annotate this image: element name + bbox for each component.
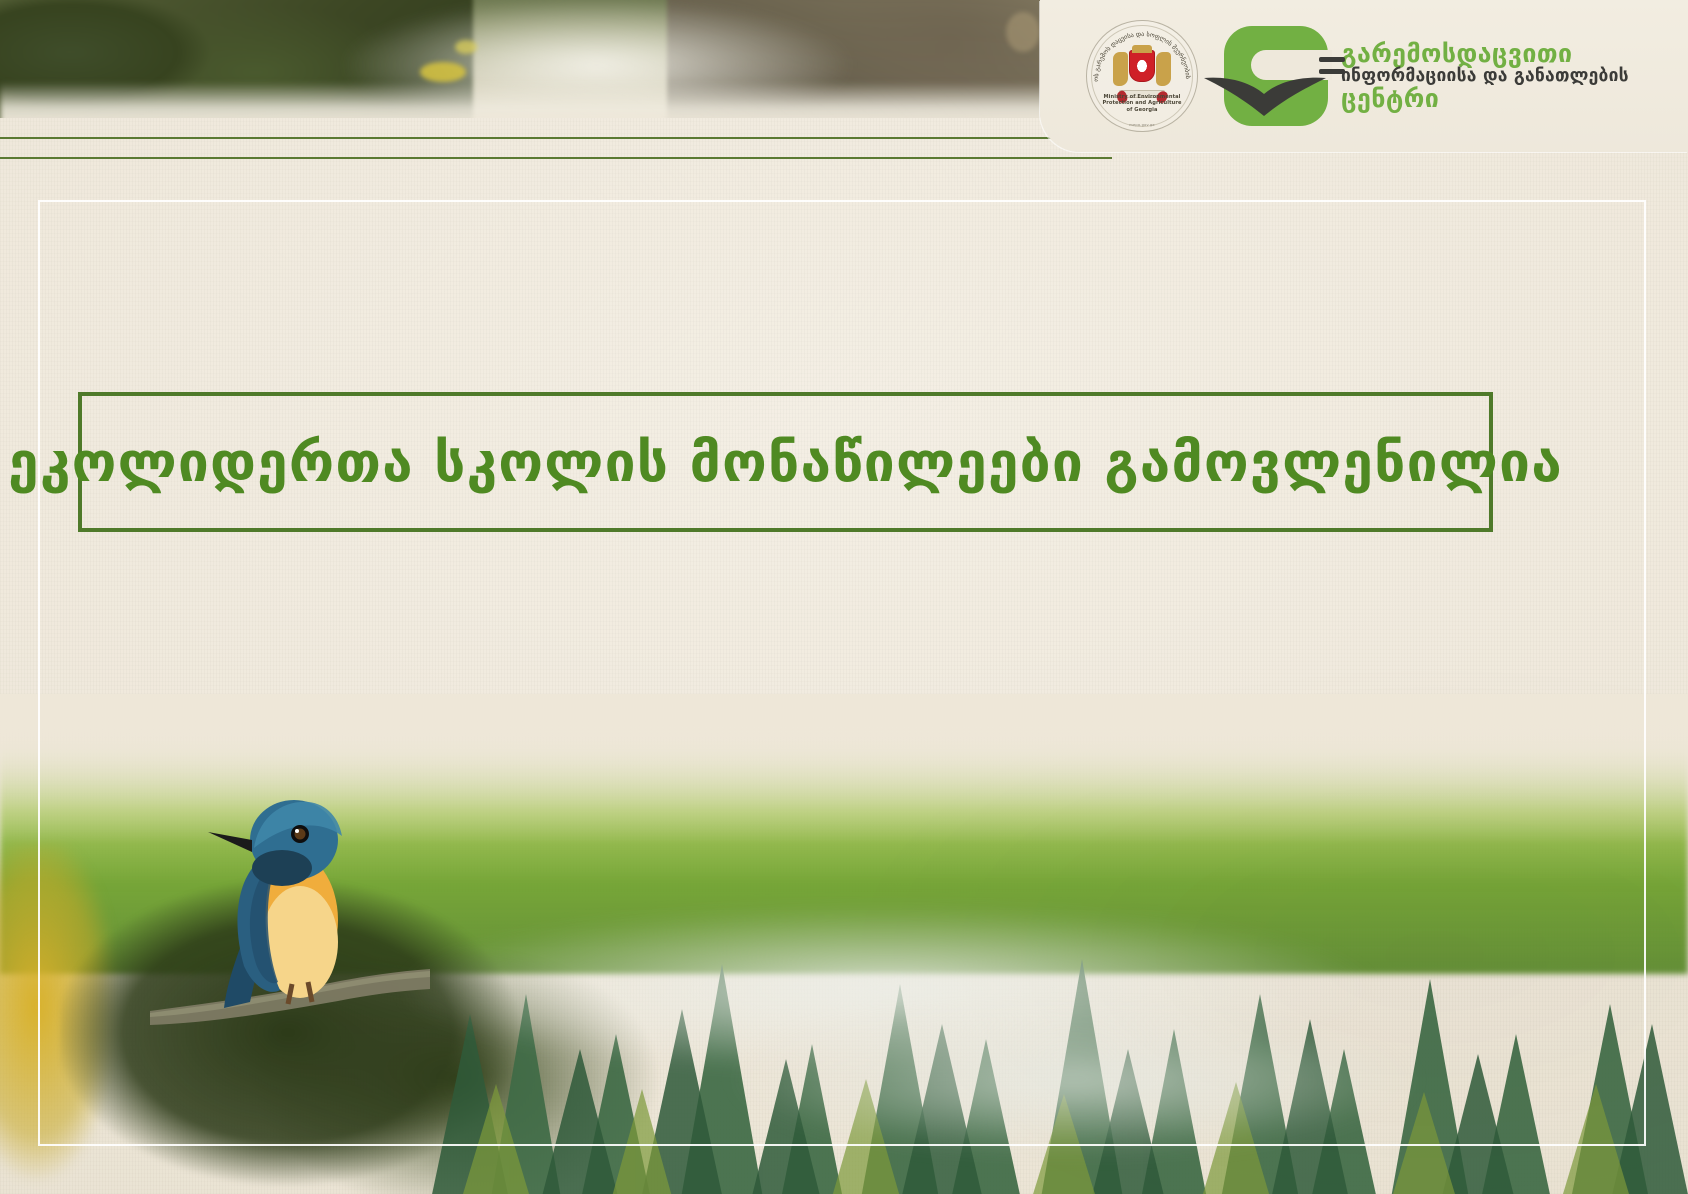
open-book-icon [1202, 74, 1328, 118]
page-title: ეკოლიდერთა სკოლის მონაწილეები გამოვლენილ… [8, 435, 1563, 490]
top-band-foliage-accent-3 [1006, 12, 1040, 52]
seal-english-line-3: of Georgia [1100, 107, 1184, 113]
top-band-foliage-accent-1 [420, 62, 466, 82]
poster-canvas: საქართველოს გარემოს დაცვისა და სოფლის მე… [0, 0, 1688, 1194]
top-band-bottom-fade [0, 82, 1075, 118]
logo-panel: საქართველოს გარემოს დაცვისა და სოფლის მე… [1040, 0, 1688, 152]
bird-throat [252, 850, 312, 886]
eiec-line-1: გარემოსდაცვითი [1341, 41, 1629, 66]
eiec-logo-wordmark: გარემოსდაცვითი ინფორმაციისა და განათლები… [1341, 41, 1629, 112]
header-rule-top [0, 137, 1112, 139]
forest-fog-band-2 [640, 994, 1508, 1164]
seal-url: mepa.gov.ge [1086, 123, 1198, 127]
seal-english-text: Ministry of Environmental Protection and… [1086, 94, 1198, 113]
eiec-logo: გარემოსდაცვითი ინფორმაციისა და განათლები… [1224, 26, 1629, 126]
seal-lion-left [1113, 52, 1128, 86]
eiec-line-3: ცენტრი [1341, 86, 1629, 111]
bird-beak [208, 832, 252, 852]
eiec-mark-bar-upper [1319, 57, 1345, 62]
top-photo-band [0, 0, 1075, 118]
seal-shield [1129, 50, 1155, 82]
seal-crown [1132, 45, 1152, 53]
title-box: ეკოლიდერთა სკოლის მონაწილეები გამოვლენილ… [78, 392, 1493, 532]
seal-lion-right [1156, 52, 1171, 86]
eiec-logo-mark [1224, 26, 1328, 126]
seal-english-line-2: Protection and Agriculture [1100, 100, 1184, 106]
ministry-seal: საქართველოს გარემოს დაცვისა და სოფლის მე… [1086, 20, 1198, 132]
bird-illustration [196, 752, 376, 1012]
eiec-line-2: ინფორმაციისა და განათლების [1341, 68, 1629, 86]
top-band-foliage-accent-2 [455, 40, 477, 54]
seal-coat-of-arms [1115, 46, 1169, 94]
header-rule-bottom [0, 157, 1112, 159]
